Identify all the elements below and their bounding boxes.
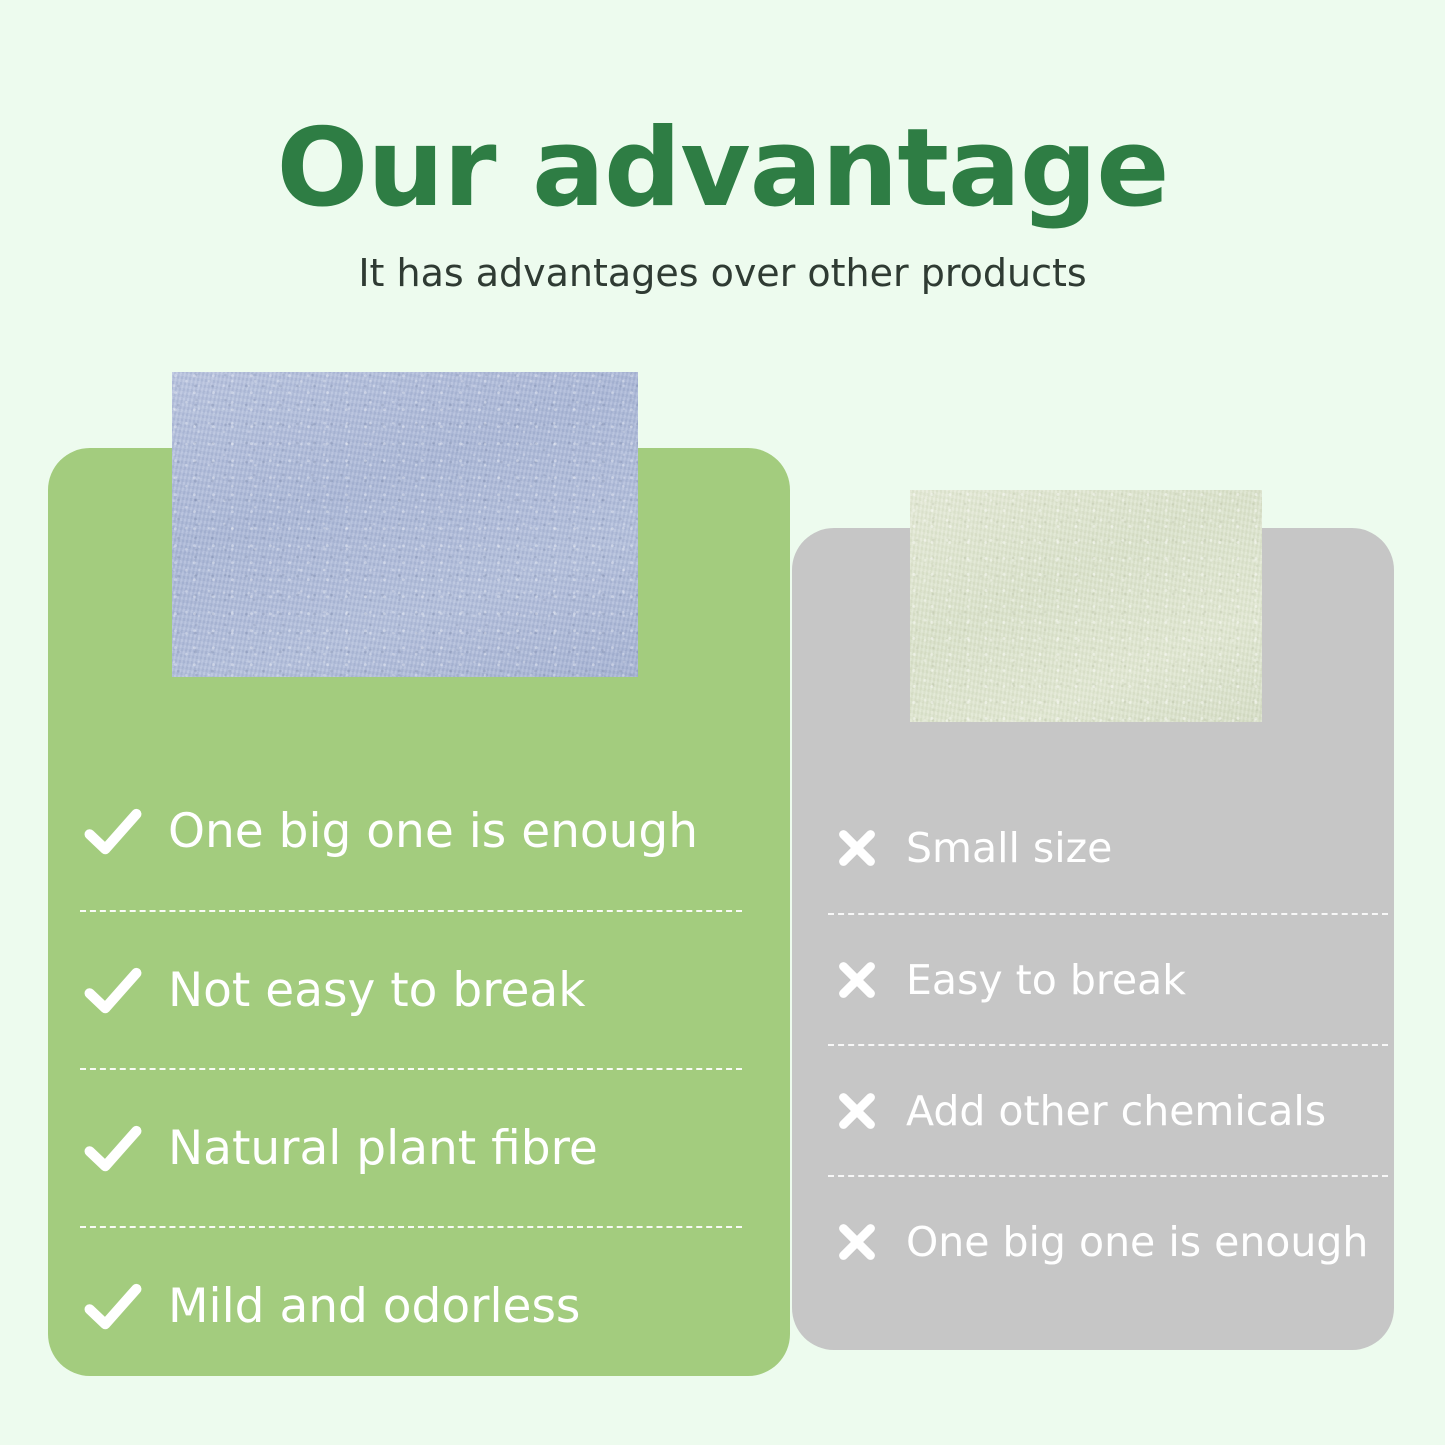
list-item-label: Mild and odorless: [168, 1279, 580, 1334]
competitor-feature-list: Small size Easy to break Add other chemi…: [828, 782, 1388, 1306]
list-item-label: Not easy to break: [168, 963, 585, 1018]
cream-cloth-swatch: [910, 490, 1262, 722]
cross-icon: [832, 1217, 882, 1267]
list-item: Natural plant fibre: [80, 1068, 742, 1226]
check-icon: [80, 798, 146, 864]
check-icon: [80, 1115, 146, 1181]
page-title: Our advantage: [0, 112, 1445, 225]
header: Our advantage It has advantages over oth…: [0, 0, 1445, 297]
list-item: Not easy to break: [80, 910, 742, 1068]
cross-icon: [832, 1086, 882, 1136]
cross-icon: [832, 955, 882, 1005]
list-item: Add other chemicals: [828, 1044, 1388, 1175]
blue-cloth-swatch: [172, 372, 638, 677]
list-item-label: Natural plant fibre: [168, 1121, 598, 1176]
list-item: Small size: [828, 782, 1388, 913]
page-subtitle: It has advantages over other products: [0, 225, 1445, 297]
list-item: One big one is enough: [828, 1175, 1388, 1306]
list-item-label: One big one is enough: [906, 1218, 1368, 1266]
list-item-label: Small size: [906, 824, 1112, 872]
list-item: One big one is enough: [80, 752, 742, 910]
list-item: Easy to break: [828, 913, 1388, 1044]
list-item: Mild and odorless: [80, 1226, 742, 1384]
list-item-label: One big one is enough: [168, 804, 698, 859]
cross-icon: [832, 823, 882, 873]
list-item-label: Easy to break: [906, 956, 1186, 1004]
advantage-feature-list: One big one is enough Not easy to break …: [80, 752, 742, 1384]
list-item-label: Add other chemicals: [906, 1087, 1326, 1135]
check-icon: [80, 1273, 146, 1339]
check-icon: [80, 957, 146, 1023]
